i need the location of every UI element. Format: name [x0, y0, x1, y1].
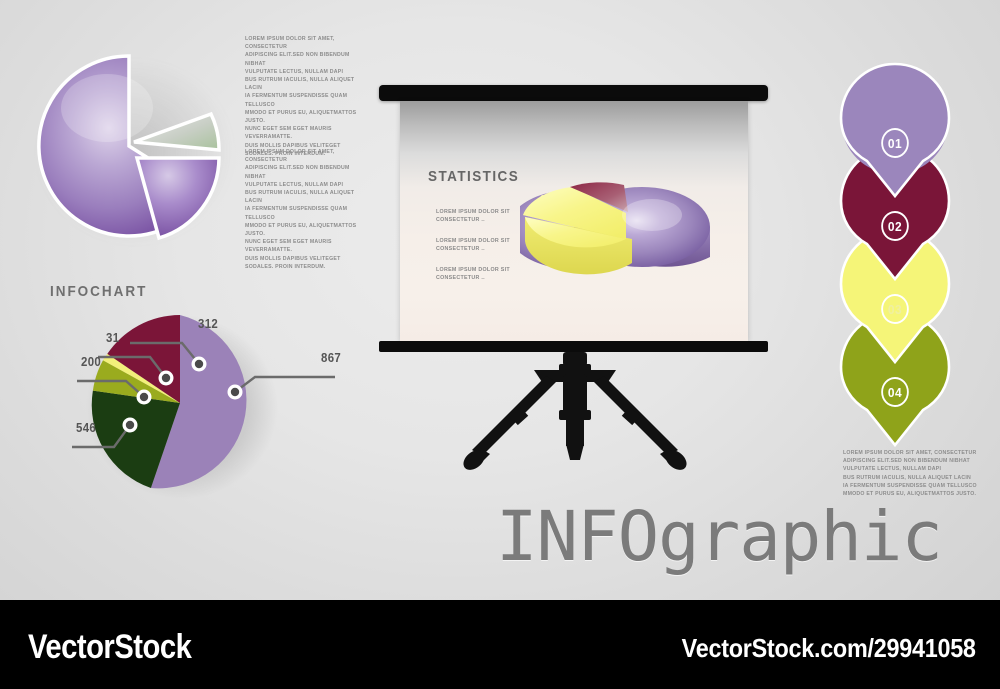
infochart-label-31: 31: [106, 330, 119, 345]
projector-screen-assembly: STATISTICS LOREM IPSUM DOLOR SIT CONSECT…: [370, 80, 775, 470]
projector-tripod: [430, 352, 720, 472]
lorem-paragraph-top-2: LOREM IPSUM DOLOR SIT AMET, CONSECTETUR …: [245, 148, 357, 271]
pin-marker-01[interactable]: 01: [835, 60, 955, 200]
projector-bottom-bar: [379, 341, 768, 352]
projector-top-bar: [379, 85, 768, 101]
pie-chart-3d-statistics: [520, 165, 720, 295]
statistics-bullet-3: LOREM IPSUM DOLOR SIT CONSECTETUR ..: [436, 266, 510, 282]
statistics-title: STATISTICS: [428, 168, 519, 185]
pie-chart-3d-top-left: [33, 50, 233, 245]
infographic-wordmark: INFOgraphic: [496, 503, 942, 572]
pin-marker-list: 01 02 03 04: [835, 60, 975, 440]
watermark-footer: VectorStock VectorStock.com/29941058: [0, 600, 1000, 689]
statistics-bullet-1: LOREM IPSUM DOLOR SIT CONSECTETUR ..: [436, 208, 510, 224]
infochart-label-312: 312: [198, 316, 218, 331]
infochart-label-546: 546: [76, 420, 96, 435]
lorem-paragraph-top-1: LOREM IPSUM DOLOR SIT AMET, CONSECTETUR …: [245, 35, 357, 158]
infographic-canvas: LOREM IPSUM DOLOR SIT AMET, CONSECTETUR …: [0, 0, 1000, 600]
statistics-bullet-2: LOREM IPSUM DOLOR SIT CONSECTETUR ..: [436, 237, 510, 253]
vectorstock-url: VectorStock.com/29941058: [682, 633, 976, 664]
infochart-label-200: 200: [81, 354, 101, 369]
pie-chart-infochart: 867 312 31 200 546: [30, 295, 370, 510]
vectorstock-logo: VectorStock: [28, 628, 191, 667]
lorem-paragraph-bottom-right: LOREM IPSUM DOLOR SIT AMET, CONSECTETUR …: [843, 449, 992, 498]
infochart-label-867: 867: [321, 350, 341, 365]
